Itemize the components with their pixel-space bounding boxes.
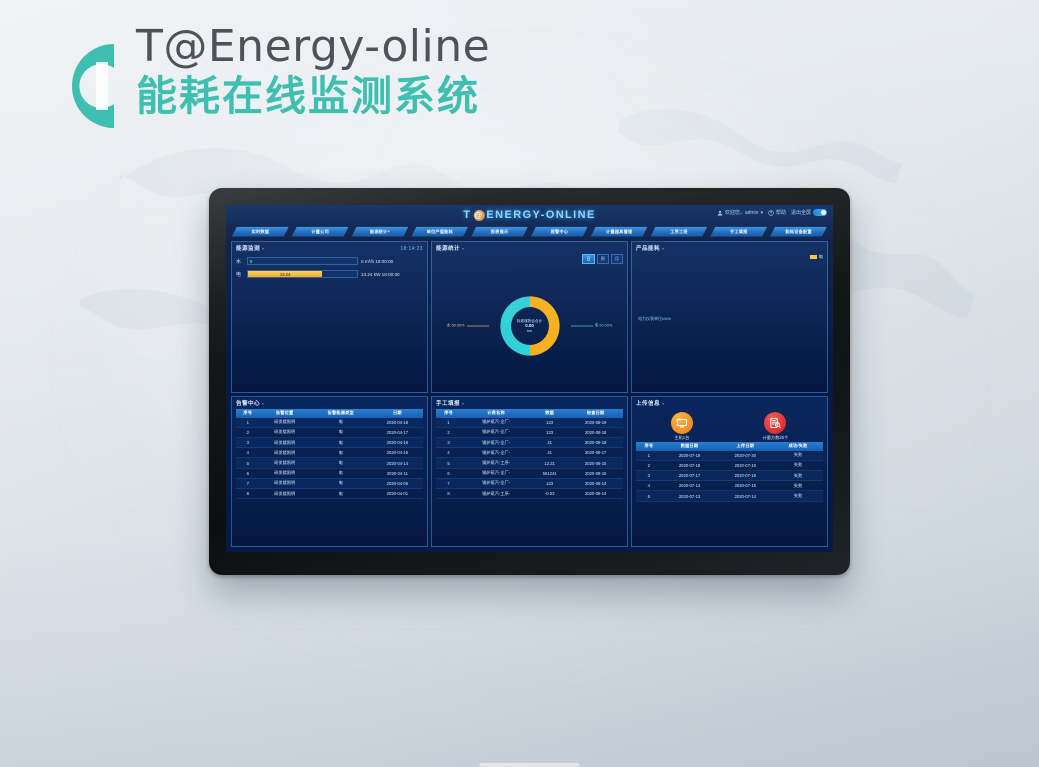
table-cell: 电 [310,478,372,488]
table-cell: 2020-08-15 [568,468,623,478]
column-header: 告警能源类型 [310,409,372,418]
monitor-bezel: T @ ENERGY-ONLINE 欢迎您，admin ▾ [209,188,850,575]
table-cell: 1 [236,418,260,428]
table-cell: 锅炉蒸汽-全厂- [461,448,531,458]
table-cell: 研发楼照明 [260,448,310,458]
donut-chart: 标准煤折合合计 0.00 tce 水 50.00% [493,289,567,363]
table-cell: 2020-08-14 [568,489,623,499]
expand-arrow-icon[interactable]: » [662,401,665,406]
table-cell: 2020-04-05 [372,478,423,488]
column-header: 计表名称 [461,409,531,418]
table-cell: 研发楼照明 [260,468,310,478]
table-cell: 2020-07-13 [662,491,718,501]
panel-title: 产品能耗 [636,244,660,252]
table-row[interactable]: 3研发楼照明电2020-04-16 [236,438,423,448]
table-cell: 电 [310,458,372,468]
app-logo-right: ENERGY-ONLINE [486,209,595,221]
donut-chart-container: 标准煤折合合计 0.00 tce 水 50.00% [432,264,627,388]
table-row[interactable]: 5锅炉蒸汽-工序-12.212020-08-15 [436,458,623,468]
user-profile[interactable]: 欢迎您，admin ▾ [717,209,763,216]
energy-bar-row: 水00 m³/h 18:00:00 [236,257,423,265]
legend-swatch-power [810,255,817,259]
panel-energy-statistics: 能源统计 » 日周月 标准煤折合合计 0.00 tce [431,241,628,393]
table-cell: 4 [236,448,260,458]
table-cell: 锅炉蒸汽-工序- [461,458,531,468]
upload-stat-2[interactable]: 计量方数25个 [763,412,789,441]
panel-title: 能源统计 [436,244,460,252]
panel-upload-info: 上传信息 » 主机1台计量方数25个 序号数据日期上传日期成功/失败12020-… [631,396,828,548]
upload-stat-label: 计量方数25个 [763,435,789,441]
table-cell: 电 [310,448,372,458]
app-logo-left: T [463,209,471,221]
table-cell: 锅炉蒸汽-工序- [461,489,531,499]
energy-bar-value-inline: 0 [250,259,252,264]
nav-button-label: 计量器具管理 [606,229,632,235]
column-header: 检查日期 [568,409,623,418]
energy-bar-fill: 13.24 [248,271,322,277]
period-toggle-group: 日周月 [436,254,623,264]
table-cell: 2020-04-14 [372,458,423,468]
chevron-down-icon: ▾ [760,210,763,216]
energy-bar-track: 13.24 [247,270,358,278]
table-cell: 2020-04-01 [372,489,423,499]
nav-button-label: 实时数据 [252,229,270,235]
table-cell: 2020-07-19 [662,451,718,461]
monitor-timestamp: 18:14:23 [400,246,423,252]
table-cell: 6 [236,468,260,478]
donut-center-label: 标准煤折合合计 0.00 tce [493,289,567,363]
table-row[interactable]: 4研发楼照明电2020-04-15 [236,448,423,458]
monitor-screen: T @ ENERGY-ONLINE 欢迎您，admin ▾ [226,205,833,552]
nav-button-6[interactable]: 报警中心 [531,227,588,237]
panel-product-energy: 产品能耗 » 电 电力仪表单位kW/h [631,241,828,393]
table-cell: 锅炉蒸汽-全厂- [461,478,531,488]
table-cell: 失败 [773,471,823,481]
column-header: 序号 [236,409,260,418]
table-header-row: 序号数据日期上传日期成功/失败 [636,442,823,451]
table-cell: 3 [436,438,461,448]
brand-header: T@Energy-oline 能耗在线监测系统 [52,24,490,140]
dashboard-grid: 能源监测 » 18:14:23 水00 m³/h 18:00:00电13.241… [226,238,833,552]
table-cell: 研发楼照明 [260,418,310,428]
upload-stat-1[interactable]: 主机1台 [671,412,693,441]
panel-title: 手工填报 [436,399,460,407]
dashboard-app: T @ ENERGY-ONLINE 欢迎您，admin ▾ [226,205,833,552]
table-row[interactable]: 6锅炉蒸汽-全厂-5612412020-08-15 [436,468,623,478]
column-header: 序号 [636,442,662,451]
table-cell: 2020-07-19 [717,460,773,470]
column-header: 成功/失败 [773,442,823,451]
user-icon [717,210,723,216]
help-label: 帮助 [776,209,786,216]
panel-header: 告警中心 » [236,399,423,407]
table-cell: 失败 [773,451,823,461]
panel-header: 能源统计 » [436,244,623,252]
nav-button-label: 报警中心 [551,229,569,235]
energy-type-label: 水 [236,258,244,265]
energy-type-label: 电 [236,271,244,278]
table-cell: 2020-04-18 [372,418,423,428]
table-cell: 1 [436,418,461,428]
nav-button-9[interactable]: 手工填报 [710,227,767,237]
table-row[interactable]: 7研发楼照明电2020-04-05 [236,478,423,488]
table-cell: 3 [236,438,260,448]
table-cell: 研发楼照明 [260,489,310,499]
upload-table: 序号数据日期上传日期成功/失败12020-07-192020-07-20失败22… [636,442,823,502]
table-row[interactable]: 32020-07-172020-07-18失败 [636,471,823,481]
nav-button-label: 能耗设备配置 [785,229,811,235]
table-row[interactable]: 52020-07-132020-07-14失败 [636,491,823,501]
table-cell: 电 [310,418,372,428]
legend-label-power: 电 [819,254,823,260]
user-name: 欢迎您，admin [725,209,759,216]
table-cell: 失败 [773,460,823,470]
donut-label-power: 电 50.00% [571,323,613,328]
table-header-row: 序号计表名称数据检查日期 [436,409,623,418]
column-header: 数据日期 [662,442,718,451]
table-cell: 2020-07-18 [662,460,718,470]
monitor-mockup: T @ ENERGY-ONLINE 欢迎您，admin ▾ [209,188,850,575]
table-cell: 2020-08-17 [568,448,623,458]
nav-button-1[interactable]: 实时数据 [232,227,289,237]
app-logo-at-icon: @ [473,210,484,221]
nav-button-label: 工序工段 [670,229,688,235]
table-cell: 5 [436,458,461,468]
column-header: 告警位置 [260,409,310,418]
table-cell: 561241 [531,468,568,478]
donut-label-water: 水 50.00% [447,323,489,328]
nav-button-label: 单位产值能耗 [427,229,453,235]
upload-stat-group: 主机1台计量方数25个 [636,409,823,442]
product-axis-note: 电力仪表单位kW/h [638,316,671,322]
energy-value-label: 0 m³/h 18:00:00 [361,259,423,264]
table-row[interactable]: 8锅炉蒸汽-工序--0.532020-08-14 [436,489,623,499]
table-cell: 8 [436,489,461,499]
table-cell: 电 [310,438,372,448]
nav-button-7[interactable]: 计量器具管理 [591,227,648,237]
table-row[interactable]: 7锅炉蒸汽-全厂-1232020-08-14 [436,478,623,488]
table-cell: 5 [636,491,662,501]
panel-header: 产品能耗 » [636,244,823,252]
table-cell: 123 [531,478,568,488]
nav-button-3[interactable]: 能源统计+ [352,227,409,237]
table-row[interactable]: 4锅炉蒸汽-全厂-212020-08-17 [436,448,623,458]
fullscreen-toggle[interactable]: 退出全屏 [791,209,827,216]
nav-button-label: 计量公司 [311,229,329,235]
table-cell: 2020-04-17 [372,427,423,437]
brand-title: T@Energy-oline [136,24,490,70]
expand-arrow-icon[interactable]: » [462,246,465,251]
table-cell: 2020-08-18 [568,427,623,437]
period-toggle-周[interactable]: 周 [597,254,609,264]
period-toggle-月[interactable]: 月 [611,254,623,264]
table-cell: 2020-07-14 [662,481,718,491]
table-cell: 4 [636,481,662,491]
column-header: 序号 [436,409,461,418]
nav-button-2[interactable]: 计量公司 [292,227,349,237]
table-cell: 12.21 [531,458,568,468]
nav-button-8[interactable]: 工序工段 [651,227,708,237]
table-row[interactable]: 2锅炉蒸汽-全厂-1232020-08-18 [436,427,623,437]
table-cell: 123 [531,427,568,437]
table-cell: 21 [531,438,568,448]
user-area: 欢迎您，admin ▾ 帮助 退出全屏 [717,209,827,216]
table-row[interactable]: 6研发楼照明电2020-04-11 [236,468,423,478]
table-cell: 锅炉蒸汽-全厂- [461,418,531,428]
table-header-row: 序号告警位置告警能源类型日期 [236,409,423,418]
logo-c-icon [52,32,124,140]
energy-value-label: 13.24 kW 18:00:00 [361,272,423,277]
nav-button-label: 报表展示 [491,229,509,235]
table-cell: 电 [310,468,372,478]
table-cell: 电 [310,427,372,437]
table-cell: 锅炉蒸汽-全厂- [461,468,531,478]
expand-arrow-icon[interactable]: » [662,246,665,251]
app-topbar: T @ ENERGY-ONLINE 欢迎您，admin ▾ [226,205,833,225]
leader-line [467,325,489,326]
manual-entry-table: 序号计表名称数据检查日期1锅炉蒸汽-全厂-1232020-08-192锅炉蒸汽-… [436,409,623,500]
table-cell: 2020-04-15 [372,448,423,458]
app-logo: T @ ENERGY-ONLINE [463,209,595,221]
chart-legend: 电 [636,254,823,260]
table-cell: -0.53 [531,489,568,499]
energy-bar-list: 水00 m³/h 18:00:00电13.2413.24 kW 18:00:00 [236,257,423,278]
fullscreen-label: 退出全屏 [791,209,811,216]
table-cell: 6 [436,468,461,478]
column-header: 日期 [372,409,423,418]
table-cell: 2020-07-15 [717,481,773,491]
nav-button-label: 手工填报 [730,229,748,235]
donut-center-unit: tce [527,329,532,333]
expand-arrow-icon[interactable]: » [262,401,265,406]
table-cell: 2020-07-18 [717,471,773,481]
table-cell: 2 [636,460,662,470]
table-row[interactable]: 1锅炉蒸汽-全厂-1232020-08-19 [436,418,623,428]
table-cell: 研发楼照明 [260,438,310,448]
table-cell: 失败 [773,491,823,501]
table-cell: 锅炉蒸汽-全厂- [461,438,531,448]
alarm-table: 序号告警位置告警能源类型日期1研发楼照明电2020-04-182研发楼照明电20… [236,409,423,500]
main-navigation: 实时数据计量公司能源统计+单位产值能耗报表展示报警中心计量器具管理工序工段手工填… [226,225,833,238]
table-cell: 8 [236,489,260,499]
table-cell: 4 [436,448,461,458]
table-cell: 电 [310,489,372,499]
table-cell: 失败 [773,481,823,491]
table-cell: 2 [236,427,260,437]
table-cell: 1 [636,451,662,461]
table-cell: 2020-04-16 [372,438,423,448]
table-cell: 2020-08-15 [568,458,623,468]
column-header: 数据 [531,409,568,418]
table-cell: 2020-08-19 [568,418,623,428]
table-row[interactable]: 5研发楼照明电2020-04-14 [236,458,423,468]
upload-stat-label: 主机1台 [671,435,693,441]
panel-energy-monitor: 能源监测 » 18:14:23 水00 m³/h 18:00:00电13.241… [231,241,428,393]
panel-alarm-center: 告警中心 » 序号告警位置告警能源类型日期1研发楼照明电2020-04-182研… [231,396,428,548]
table-cell: 2020-08-18 [568,438,623,448]
energy-bar-track: 0 [247,257,358,265]
expand-arrow-icon[interactable]: » [262,246,265,251]
table-cell: 2020-07-20 [717,451,773,461]
panel-title: 告警中心 [236,399,260,407]
panel-header: 能源监测 » 18:14:23 [236,244,423,252]
brand-subtitle: 能耗在线监测系统 [136,72,490,120]
table-cell: 123 [531,418,568,428]
panel-manual-entry: 手工填报 » 序号计表名称数据检查日期1锅炉蒸汽-全厂-1232020-08-1… [431,396,628,548]
table-cell: 7 [236,478,260,488]
help-link[interactable]: 帮助 [768,209,786,216]
nav-button-10[interactable]: 能耗设备配置 [770,227,827,237]
nav-button-5[interactable]: 报表展示 [471,227,528,237]
table-row[interactable]: 8研发楼照明电2020-04-01 [236,489,423,499]
host-icon [671,412,693,434]
panel-title: 能源监测 [236,244,260,252]
table-row[interactable]: 2研发楼照明电2020-04-17 [236,427,423,437]
fullscreen-switch[interactable] [813,209,827,216]
help-icon [768,210,774,216]
table-cell: 2020-07-14 [717,491,773,501]
table-cell: 3 [636,471,662,481]
donut-label-water-text: 水 50.00% [447,323,465,328]
table-row[interactable]: 12020-07-192020-07-20失败 [636,451,823,461]
table-cell: 研发楼照明 [260,458,310,468]
table-row[interactable]: 1研发楼照明电2020-04-18 [236,418,423,428]
table-cell: 21 [531,448,568,458]
panel-header: 手工填报 » [436,399,623,407]
column-header: 上传日期 [717,442,773,451]
expand-arrow-icon[interactable]: » [462,401,465,406]
nav-button-4[interactable]: 单位产值能耗 [411,227,468,237]
table-cell: 2020-08-14 [568,478,623,488]
leader-line [571,325,593,326]
table-row[interactable]: 3锅炉蒸汽-全厂-212020-08-18 [436,438,623,448]
nav-button-label: 能源统计+ [370,229,390,235]
energy-bar-row: 电13.2413.24 kW 18:00:00 [236,270,423,278]
panel-title: 上传信息 [636,399,660,407]
panel-header: 上传信息 » [636,399,823,407]
table-row[interactable]: 42020-07-142020-07-15失败 [636,481,823,491]
period-toggle-日[interactable]: 日 [582,254,594,264]
table-cell: 锅炉蒸汽-全厂- [461,427,531,437]
table-cell: 研发楼照明 [260,478,310,488]
table-cell: 7 [436,478,461,488]
meter-search-icon [764,412,786,434]
table-cell: 2020-07-17 [662,471,718,481]
table-cell: 研发楼照明 [260,427,310,437]
table-row[interactable]: 22020-07-182020-07-19失败 [636,460,823,470]
table-cell: 5 [236,458,260,468]
monitor-neck-face [443,763,617,767]
donut-label-power-text: 电 50.00% [595,323,613,328]
table-cell: 2020-04-11 [372,468,423,478]
table-cell: 2 [436,427,461,437]
